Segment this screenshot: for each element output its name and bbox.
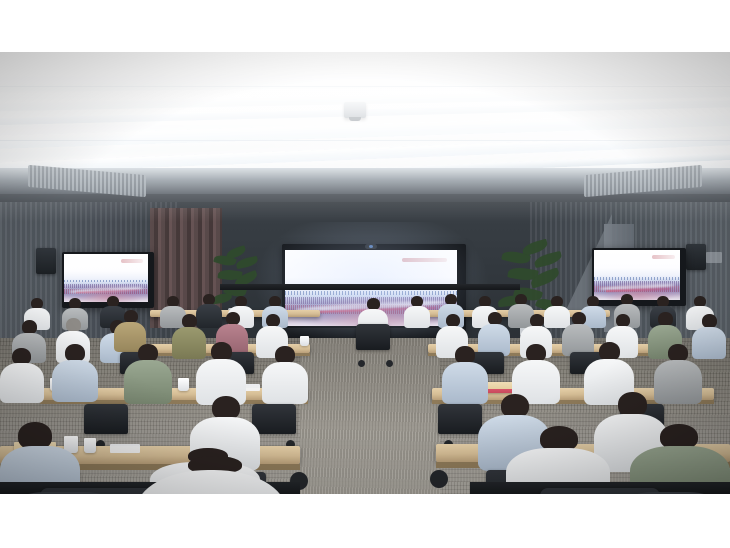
cityscape-image bbox=[64, 254, 148, 302]
person-head bbox=[22, 320, 37, 334]
ceiling-seam bbox=[0, 86, 730, 87]
center-aisle bbox=[300, 338, 440, 494]
watermark bbox=[402, 258, 447, 262]
city-skyline-band bbox=[285, 291, 457, 295]
plant-leaf bbox=[235, 256, 258, 269]
person-head bbox=[182, 314, 197, 328]
city-skyline-band bbox=[594, 277, 680, 280]
watermark bbox=[652, 255, 674, 259]
paper-cup bbox=[300, 336, 309, 346]
person-torso bbox=[404, 306, 430, 328]
attendee bbox=[196, 342, 246, 402]
attendee bbox=[262, 346, 308, 402]
ceiling-seam bbox=[0, 140, 730, 141]
camera-lens-icon bbox=[369, 245, 373, 248]
person-torso bbox=[136, 470, 286, 494]
cityscape-image bbox=[594, 250, 680, 300]
right-monitor-content bbox=[594, 250, 680, 300]
plant-leaf bbox=[533, 251, 563, 268]
person-head bbox=[658, 312, 673, 326]
right-wall-speaker bbox=[686, 244, 706, 270]
office-chair bbox=[84, 404, 128, 434]
watermark bbox=[121, 259, 143, 263]
attendee bbox=[124, 344, 172, 402]
paper-cup bbox=[178, 378, 189, 391]
foreground-attendee bbox=[0, 492, 120, 494]
chair-caster bbox=[386, 360, 393, 367]
office-chair bbox=[356, 324, 390, 350]
person-torso bbox=[124, 360, 172, 404]
person-torso bbox=[52, 360, 98, 402]
foreground-attendee bbox=[136, 456, 286, 494]
screenshot-canvas bbox=[0, 0, 730, 548]
ceiling-light-strip bbox=[0, 68, 730, 92]
desk-row bbox=[220, 284, 520, 290]
person-head bbox=[66, 318, 81, 332]
person-head bbox=[702, 314, 717, 328]
person-torso bbox=[620, 492, 730, 494]
exit-sign bbox=[706, 252, 722, 263]
person-torso bbox=[0, 363, 44, 403]
chair-caster bbox=[430, 470, 448, 488]
person-torso bbox=[262, 362, 308, 404]
attendee bbox=[52, 344, 98, 400]
attendee bbox=[404, 296, 430, 326]
person-torso bbox=[0, 492, 120, 494]
left-wall-speaker bbox=[36, 248, 56, 274]
foreground-attendee bbox=[620, 492, 730, 494]
left-monitor-content bbox=[64, 254, 148, 302]
attendee bbox=[0, 348, 44, 400]
conference-room-photo bbox=[0, 52, 730, 494]
ceiling-projector bbox=[344, 102, 366, 118]
paper-cup bbox=[84, 438, 96, 453]
chair-caster bbox=[358, 360, 365, 367]
city-skyline-band bbox=[64, 280, 148, 282]
office-chair bbox=[438, 404, 482, 434]
projector-lens bbox=[349, 117, 361, 121]
document-paper bbox=[110, 444, 140, 453]
